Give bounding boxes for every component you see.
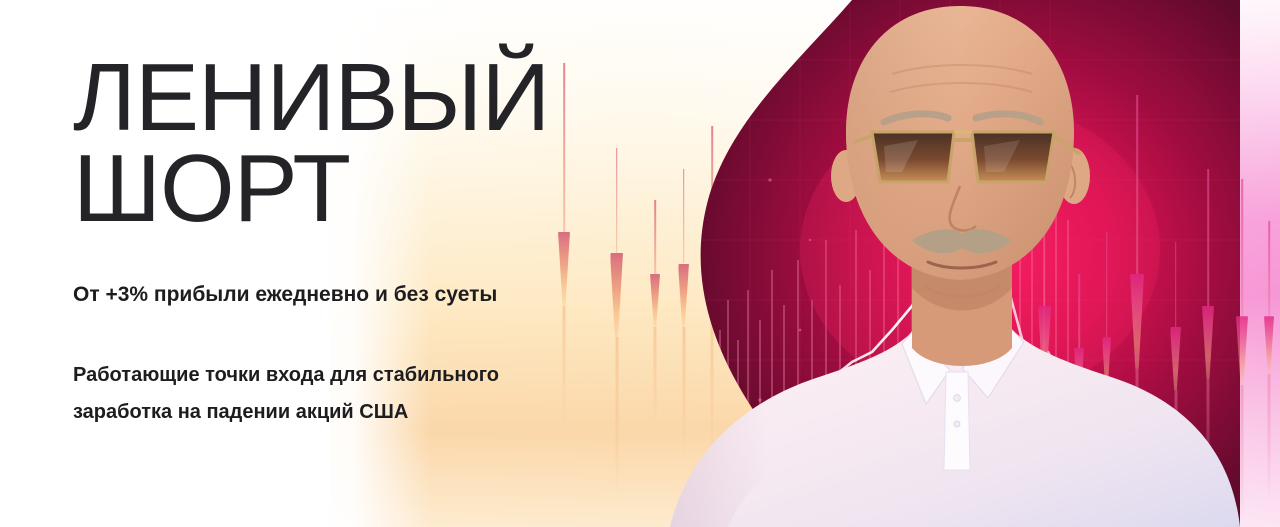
page-title: ЛЕНИВЫЙ ШОРТ [73, 0, 543, 234]
man-portrait [640, 0, 1240, 527]
text-column: ЛЕНИВЫЙ ШОРТ От +3% прибыли ежедневно и … [73, 0, 543, 431]
man-portrait-svg [640, 0, 1240, 527]
subtitle: От +3% прибыли ежедневно и без суеты [73, 234, 513, 315]
shirt-button [954, 421, 960, 427]
sunglasses-lens-left [872, 132, 954, 182]
promo-banner: ЛЕНИВЫЙ ШОРТ От +3% прибыли ежедневно и … [0, 0, 1280, 527]
shirt-button [954, 395, 961, 402]
sunglasses-lens-right [972, 132, 1054, 182]
body-text: Работающие точки входа для стабильного з… [73, 315, 513, 431]
